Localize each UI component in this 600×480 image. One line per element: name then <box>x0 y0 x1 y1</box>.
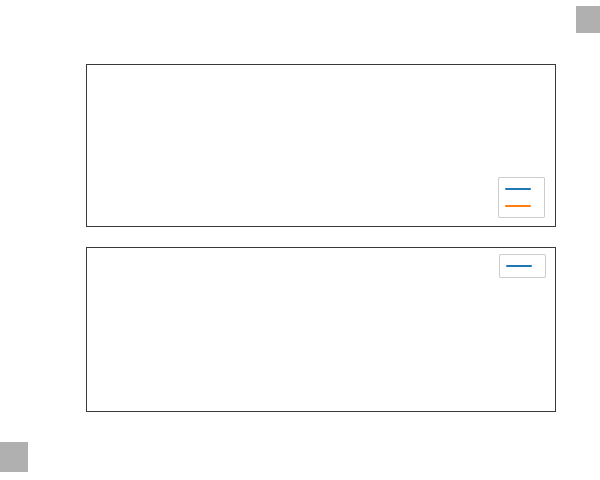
y-axis-ticklabels-top <box>44 64 82 227</box>
loss-plot <box>86 247 556 412</box>
loss-svg <box>87 248 555 411</box>
legend-swatch-loss <box>506 265 532 267</box>
legend-swatch-reward <box>505 205 531 207</box>
legend-item-steps[interactable] <box>505 182 537 196</box>
figure-canvas <box>0 0 600 480</box>
legend-item-reward[interactable] <box>505 199 537 213</box>
legend-top[interactable] <box>498 177 545 218</box>
watermark-top-right <box>576 6 600 33</box>
plot-area-top <box>87 65 555 226</box>
legend-item-loss[interactable] <box>506 259 538 273</box>
watermark-bottom-left <box>0 442 28 472</box>
plot-area-bottom <box>87 248 555 411</box>
x-axis-ticklabels <box>86 414 556 434</box>
legend-swatch-steps <box>505 188 531 190</box>
steps-reward-plot <box>86 64 556 227</box>
steps-reward-svg <box>87 65 555 226</box>
legend-bottom[interactable] <box>499 254 546 278</box>
y-axis-ticklabels-bottom <box>30 247 82 412</box>
